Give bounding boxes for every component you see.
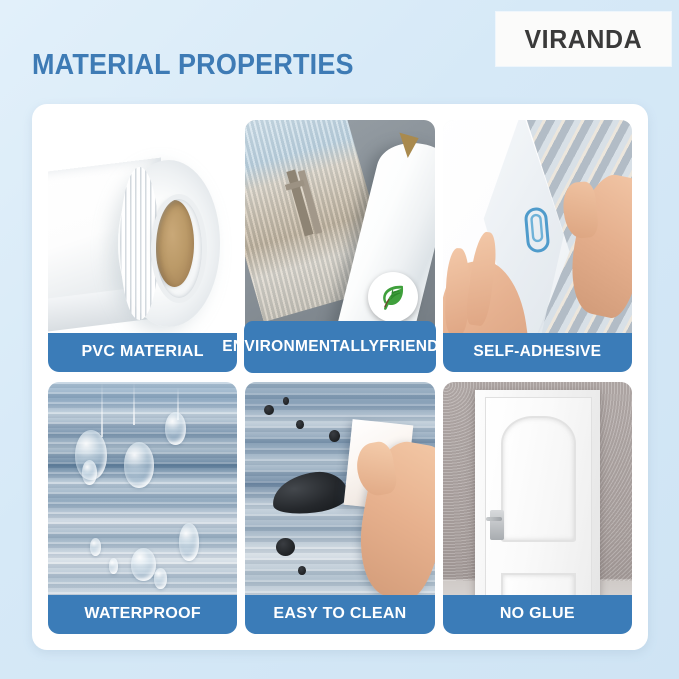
feature-label-no-glue: NO GLUE [443,595,632,634]
feature-cell-waterproof[interactable]: WATERPROOF [48,382,237,634]
stain-spot-shape [264,405,273,415]
eco-badge [368,272,418,322]
feature-label-easy-to-clean: EASY TO CLEAN [245,595,434,634]
door-handle-shape [490,510,504,539]
water-drop-shape [124,442,154,487]
pier-post-shape [286,169,314,236]
feature-label-self-adhesive: SELF-ADHESIVE [443,333,632,372]
feature-cell-environmentally-friendly[interactable]: ENVIRONMENTALLY FRIENDLY [245,120,434,372]
leaf-icon [378,282,408,312]
features-grid: PVC MATERIAL ENVIRONMENTALLY [48,120,632,634]
feature-label-waterproof: WATERPROOF [48,595,237,634]
feature-label-line1: ENVIRONMENTALLY [222,339,379,355]
water-drop-shape [165,412,186,445]
water-drop-shape [82,460,97,485]
water-trail-shape [133,382,135,425]
stain-spot-shape [298,566,306,575]
brand-logo: VIRANDA [496,12,671,66]
pvc-roll-body-shape [118,160,220,326]
stain-spot-shape [296,420,304,429]
stain-spot-shape [283,397,289,405]
water-drop-shape [109,558,118,573]
water-drop-shape [179,523,200,561]
door-shape [485,397,592,624]
stain-spot-shape [329,430,340,443]
hand-shape [350,437,435,605]
page-title: MATERIAL PROPERTIES [32,49,354,82]
water-trail-shape [101,382,103,437]
features-card: PVC MATERIAL ENVIRONMENTALLY [32,104,648,650]
feature-label-pvc-material: PVC MATERIAL [48,333,237,372]
pvc-roll-core-shape [155,200,194,286]
water-drop-shape [131,548,156,581]
paperclip-icon [522,205,552,255]
feature-label-environmentally-friendly: ENVIRONMENTALLY FRIENDLY [244,321,435,373]
feature-cell-pvc-material[interactable]: PVC MATERIAL [48,120,237,372]
feature-cell-no-glue[interactable]: NO GLUE [443,382,632,634]
water-drop-shape [90,538,101,556]
stain-smear-shape [270,468,350,517]
feature-cell-easy-to-clean[interactable]: EASY TO CLEAN [245,382,434,634]
door-panel-top-shape [501,416,577,542]
feature-cell-self-adhesive[interactable]: SELF-ADHESIVE [443,120,632,372]
stain-spot-shape [276,538,295,556]
door-frame-shape [475,390,600,627]
water-drop-shape [154,568,167,588]
brand-logo-text: VIRANDA [525,24,643,55]
